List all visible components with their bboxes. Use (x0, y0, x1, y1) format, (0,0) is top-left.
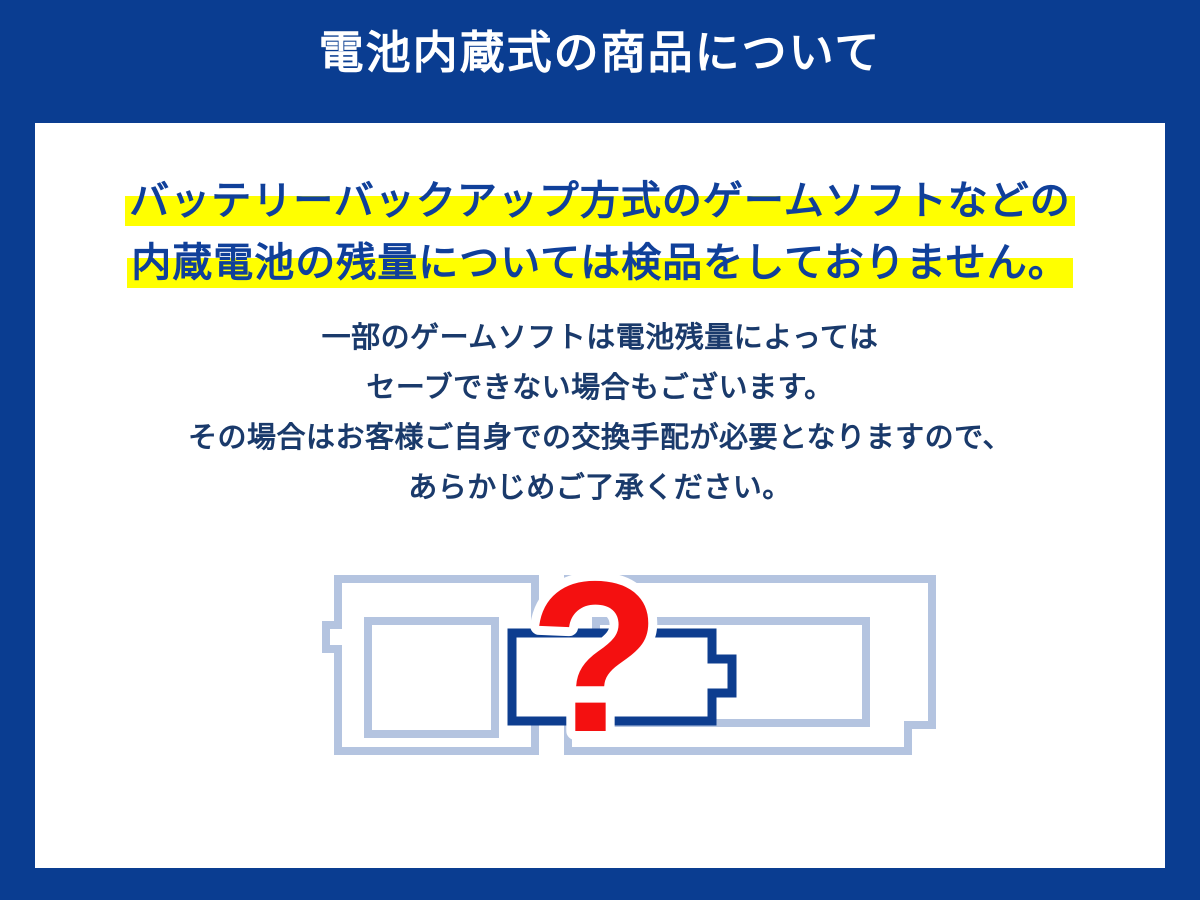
headline-line-2: 内蔵電池の残量については検品をしておりません。 (127, 232, 1072, 294)
content-card: バッテリーバックアップ方式のゲームソフトなどの 内蔵電池の残量については検品をし… (35, 123, 1165, 868)
body-line-1: 一部のゲームソフトは電池残量によっては (35, 313, 1165, 363)
question-mark-icon: ? (529, 553, 660, 777)
body-line-3: その場合はお客様ご自身での交換手配が必要となりますので、 (35, 413, 1165, 463)
header-band: 電池内蔵式の商品について (0, 0, 1200, 123)
illustration: ? ? (300, 553, 960, 783)
slide-root: 電池内蔵式の商品について バッテリーバックアップ方式のゲームソフトなどの 内蔵電… (0, 0, 1200, 900)
page-title: 電池内蔵式の商品について (0, 27, 1200, 79)
left-game-cartridge (326, 579, 535, 751)
headline-line-1: バッテリーバックアップ方式のゲームソフトなどの (125, 170, 1074, 232)
headline-block: バッテリーバックアップ方式のゲームソフトなどの 内蔵電池の残量については検品をし… (35, 170, 1165, 294)
body-copy-block: 一部のゲームソフトは電池残量によっては セーブできない場合もございます。 その場… (35, 313, 1165, 513)
left-cartridge-label (368, 621, 495, 734)
headline-line: バッテリーバックアップ方式のゲームソフトなどの (35, 170, 1165, 232)
body-line-2: セーブできない場合もございます。 (35, 363, 1165, 413)
body-line-4: あらかじめご了承ください。 (35, 463, 1165, 513)
headline-line: 内蔵電池の残量については検品をしておりません。 (35, 232, 1165, 294)
svg-text:?: ? (529, 553, 660, 777)
